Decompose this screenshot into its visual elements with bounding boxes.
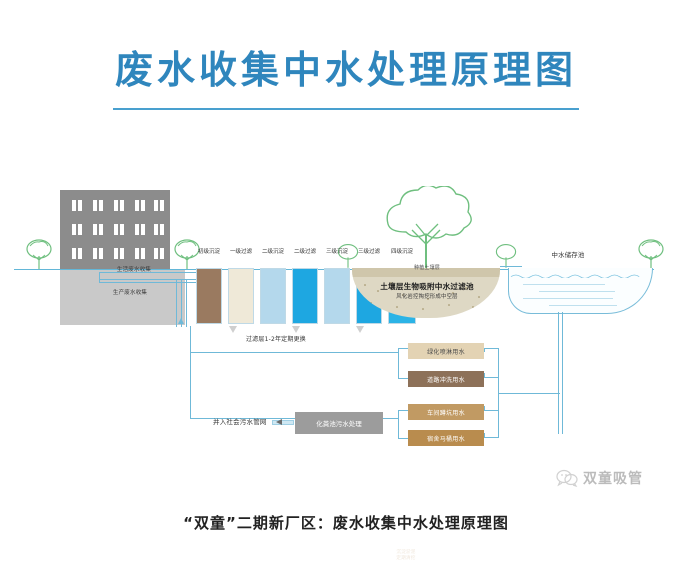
usage-box-3: 车间蹲坑用水 — [408, 404, 484, 420]
pipe-mound-to-pond — [500, 266, 522, 267]
filter-arrow-icon — [356, 326, 364, 333]
usage-box-2-label: 道路冲洗用水 — [427, 375, 465, 384]
tank-1: 初级沉淀 — [196, 268, 222, 324]
tank-1-label: 初级沉淀 — [197, 249, 221, 256]
pipe-bus-to-riser — [498, 393, 560, 394]
page-title: 废水收集中水处理原理图 — [0, 46, 692, 94]
filter-replacement-note: 过滤层1-2年定期更换 — [228, 336, 324, 344]
pipe-return-riser — [190, 326, 191, 352]
pipe-domestic-horizontal-2 — [99, 279, 199, 280]
arrow-up-icon — [178, 318, 184, 324]
tree-icon — [636, 236, 666, 270]
planting-soil-layer-label: 种植土壤层 — [392, 265, 462, 273]
production-wastewater-label: 生产废水收集 — [95, 290, 165, 298]
tank-7-label: 四级沉淀 — [389, 249, 415, 256]
figure-caption: “双童”二期新厂区：废水收集中水处理原理图 — [0, 512, 692, 533]
reclaimed-water-storage-pond — [508, 268, 653, 314]
pipe-left-feed-lower-a — [398, 410, 408, 411]
storage-pond-label: 中水储存池 — [528, 252, 608, 260]
watermark-brand: 双童吸管 — [583, 468, 643, 488]
pipe-pond-outlet-right — [562, 312, 563, 434]
pipe-septic-to-usage — [383, 418, 399, 419]
pipe-usage-4-stub — [484, 433, 485, 437]
tank-4-label: 二级过滤 — [293, 249, 317, 256]
filter-arrow-icon — [292, 326, 300, 333]
pipe-usage-1-stub — [484, 348, 485, 352]
title-underline — [113, 108, 579, 110]
pipe-usage-3 — [484, 410, 498, 411]
pipe-left-feed-upper — [398, 348, 399, 378]
page-title-text: 废水收集中水处理原理图 — [0, 46, 692, 94]
filter-arrow-icon — [229, 326, 237, 333]
tank-5: 三级沉淀 — [324, 268, 350, 324]
usage-box-3-label: 车间蹲坑用水 — [427, 408, 465, 417]
tree-icon — [24, 236, 54, 270]
sludge-note: 沉淀淤泥定期清挖 — [394, 550, 418, 562]
usage-box-1-label: 绿化喷淋用水 — [427, 347, 465, 356]
septic-tank-treatment-box: 化粪池污水处理 — [295, 412, 383, 434]
domestic-wastewater-label: 生活废水收集 — [106, 267, 162, 275]
usage-box-2: 道路冲洗用水 — [408, 371, 484, 387]
pipe-left-feed-lower — [398, 410, 399, 438]
tank-2: 一级过滤 — [228, 268, 254, 324]
tank-2-label: 一级过滤 — [229, 249, 253, 256]
water-surface-wave — [509, 274, 652, 278]
diagram-canvas: 废水收集中水处理原理图 — [0, 0, 692, 549]
soil-pond-sub-label: 风化岩控掏挖形成中空层 — [367, 294, 487, 302]
factory-building — [60, 190, 170, 270]
tank-3-label: 二级沉淀 — [261, 249, 285, 256]
pipe-usage-2 — [484, 377, 498, 378]
usage-box-1: 绿化喷淋用水 — [408, 343, 484, 359]
arrow-left-icon — [276, 419, 282, 425]
pipe-riser-a — [176, 279, 177, 327]
watermark: 双童吸管 — [556, 468, 643, 488]
tank-6-label: 三级过滤 — [357, 249, 381, 256]
pipe-domestic-horizontal — [99, 272, 199, 273]
pipe-pond-outlet-left — [558, 312, 559, 434]
large-tree-icon — [380, 186, 472, 272]
pipe-production — [99, 282, 199, 283]
tank-4: 二级过滤 — [292, 268, 318, 324]
pipe-left-feed-lower-b — [398, 438, 408, 439]
pipe-usage-2-stub — [484, 373, 485, 377]
pipe-left-feed-upper-b — [398, 378, 408, 379]
pipe-domestic-vertical — [99, 272, 100, 282]
septic-tank-label: 化粪池污水处理 — [316, 418, 362, 428]
usage-box-4: 宿舍马桶用水 — [408, 430, 484, 446]
soil-pond-main-label: 土壤层生物吸附中水过滤池 — [363, 283, 491, 291]
tank-5-label: 三级沉淀 — [325, 249, 349, 256]
tank-3: 二级沉淀 — [260, 268, 286, 324]
usage-box-4-label: 宿舍马桶用水 — [427, 434, 465, 443]
pipe-usage-1 — [484, 348, 498, 349]
wechat-official-account-icon — [556, 469, 578, 487]
pipe-return-lower-riser — [190, 352, 191, 418]
pipe-usage-4 — [484, 437, 498, 438]
pipe-return-upper — [190, 352, 398, 353]
municipal-sewer-label: 并入社会污水管网 — [213, 419, 267, 427]
pipe-riser-c — [186, 279, 187, 327]
pipe-left-feed-upper-a — [398, 348, 408, 349]
pipe-usage-3-stub — [484, 406, 485, 410]
